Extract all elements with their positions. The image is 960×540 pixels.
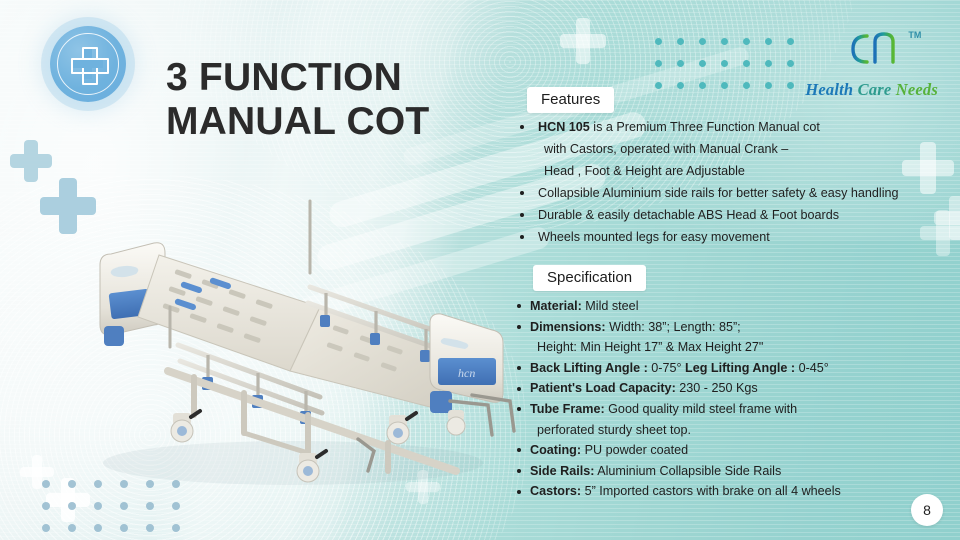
spec-item-text: perforated sturdy sheet top. xyxy=(537,424,691,437)
decorative-dot xyxy=(94,502,102,510)
feature-item: Durable & easily detachable ABS Head & F… xyxy=(520,204,950,226)
feature-item: Head , Foot & Height are Adjustable xyxy=(520,160,950,182)
decorative-dot xyxy=(120,524,128,532)
bullet-dot-icon xyxy=(520,213,524,217)
page-title: 3 FUNCTION MANUAL COT xyxy=(166,56,429,143)
medical-cross-icon xyxy=(71,47,105,81)
spec-item: Tube Frame: Good quality mild steel fram… xyxy=(517,399,957,420)
decorative-dot xyxy=(120,502,128,510)
title-line-1: 3 FUNCTION xyxy=(166,56,429,100)
decorative-dot xyxy=(721,60,728,67)
trademark-icon: TM xyxy=(908,30,921,40)
medical-cross-badge xyxy=(50,26,126,102)
bullet-dot-icon xyxy=(517,366,521,370)
decorative-dot xyxy=(787,82,794,89)
spec-item-text: Castors: 5” Imported castors with brake … xyxy=(530,485,841,498)
feature-item: with Castors, operated with Manual Crank… xyxy=(520,138,950,160)
decorative-dot xyxy=(743,38,750,45)
spec-item: Patient's Load Capacity: 230 - 250 Kgs xyxy=(517,378,957,399)
bullet-dot-icon xyxy=(517,325,521,329)
feature-item: Wheels mounted legs for easy movement xyxy=(520,226,950,248)
cross-fill-horizontal xyxy=(73,60,103,68)
logo-word-care: Care xyxy=(858,80,892,99)
decorative-dot xyxy=(655,60,662,67)
hcn-monogram-icon: TM xyxy=(805,16,915,78)
decorative-dot xyxy=(699,60,706,67)
decorative-dot xyxy=(787,38,794,45)
bullet-dot-icon xyxy=(520,191,524,195)
spec-item-text: Dimensions: Width: 38”; Length: 85”; xyxy=(530,321,741,334)
decorative-dot xyxy=(743,82,750,89)
feature-item-text: Wheels mounted legs for easy movement xyxy=(538,231,770,244)
spec-item-text: Side Rails: Aluminium Collapsible Side R… xyxy=(530,465,781,478)
decorative-dot xyxy=(699,82,706,89)
bullet-dot-icon xyxy=(520,125,524,129)
decorative-dot xyxy=(699,38,706,45)
feature-item-text: with Castors, operated with Manual Crank… xyxy=(544,143,788,156)
decorative-dot xyxy=(655,82,662,89)
features-heading: Features xyxy=(527,87,614,113)
decorative-dot xyxy=(743,60,750,67)
bullet-dot-icon xyxy=(517,469,521,473)
features-list: HCN 105 is a Premium Three Function Manu… xyxy=(520,116,950,248)
bullet-dot-icon xyxy=(517,407,521,411)
decorative-dot xyxy=(765,82,772,89)
cross-fill-vertical xyxy=(84,49,92,79)
decorative-dot xyxy=(172,524,180,532)
bullet-dot-icon xyxy=(517,387,521,391)
slide-canvas: 3 FUNCTION MANUAL COT xyxy=(0,0,960,540)
decorative-dot xyxy=(721,82,728,89)
spec-item-text: Height: Min Height 17” & Max Height 27" xyxy=(537,341,763,354)
decorative-dot xyxy=(146,524,154,532)
svg-text:hcn: hcn xyxy=(458,366,475,380)
decorative-dot xyxy=(721,38,728,45)
dot-grid-top-right xyxy=(655,38,809,104)
spec-item: Back Lifting Angle : 0-75° Leg Lifting A… xyxy=(517,358,957,379)
decorative-dot xyxy=(787,60,794,67)
decorative-dot xyxy=(655,38,662,45)
decorative-dot xyxy=(146,502,154,510)
decorative-dot xyxy=(677,38,684,45)
decorative-dot xyxy=(765,60,772,67)
bullet-dot-icon xyxy=(517,304,521,308)
decorative-cross-icon xyxy=(560,18,606,64)
decorative-dot xyxy=(677,60,684,67)
bullet-dot-icon xyxy=(517,448,521,452)
logo-word-needs: Needs xyxy=(896,80,938,99)
spec-item: Side Rails: Aluminium Collapsible Side R… xyxy=(517,461,957,482)
decorative-dot xyxy=(172,502,180,510)
decorative-dot xyxy=(677,82,684,89)
specification-heading: Specification xyxy=(533,265,646,291)
spec-item-text: Back Lifting Angle : 0-75° Leg Lifting A… xyxy=(530,362,829,375)
spec-item-text: Tube Frame: Good quality mild steel fram… xyxy=(530,403,797,416)
decorative-dot xyxy=(42,502,50,510)
feature-item-text: Collapsible Aluminium side rails for bet… xyxy=(538,187,899,200)
logo-wordmark: Health Care Needs xyxy=(805,80,938,100)
feature-item-text: Durable & easily detachable ABS Head & F… xyxy=(538,209,839,222)
spec-item-text: Patient's Load Capacity: 230 - 250 Kgs xyxy=(530,382,758,395)
decorative-dot xyxy=(42,480,50,488)
feature-item-text: HCN 105 is a Premium Three Function Manu… xyxy=(538,121,820,134)
spec-item: Material: Mild steel xyxy=(517,296,957,317)
decorative-dot xyxy=(94,524,102,532)
spec-item: Height: Min Height 17” & Max Height 27" xyxy=(517,337,957,358)
decorative-cross-icon xyxy=(10,140,52,182)
bullet-dot-icon xyxy=(520,235,524,239)
decorative-dot xyxy=(68,524,76,532)
spec-item: Dimensions: Width: 38”; Length: 85”; xyxy=(517,317,957,338)
spec-item: Coating: PU powder coated xyxy=(517,440,957,461)
feature-item: Collapsible Aluminium side rails for bet… xyxy=(520,182,950,204)
logo-word-health: Health xyxy=(805,80,853,99)
page-number-badge: 8 xyxy=(911,494,943,526)
bullet-dot-icon xyxy=(517,490,521,494)
title-line-2: MANUAL COT xyxy=(166,100,429,144)
feature-item-text: Head , Foot & Height are Adjustable xyxy=(544,165,745,178)
spec-item-text: Coating: PU powder coated xyxy=(530,444,688,457)
decorative-dot xyxy=(42,524,50,532)
decorative-dot xyxy=(68,502,76,510)
hospital-bed-photo: hcn xyxy=(58,195,528,495)
decorative-dot xyxy=(765,38,772,45)
spec-item-text: Material: Mild steel xyxy=(530,300,639,313)
specification-list: Material: Mild steelDimensions: Width: 3… xyxy=(517,296,957,502)
brand-logo: TM Health Care Needs xyxy=(805,16,938,100)
spec-item: perforated sturdy sheet top. xyxy=(517,420,957,441)
spec-item: Castors: 5” Imported castors with brake … xyxy=(517,481,957,502)
feature-item: HCN 105 is a Premium Three Function Manu… xyxy=(520,116,950,138)
